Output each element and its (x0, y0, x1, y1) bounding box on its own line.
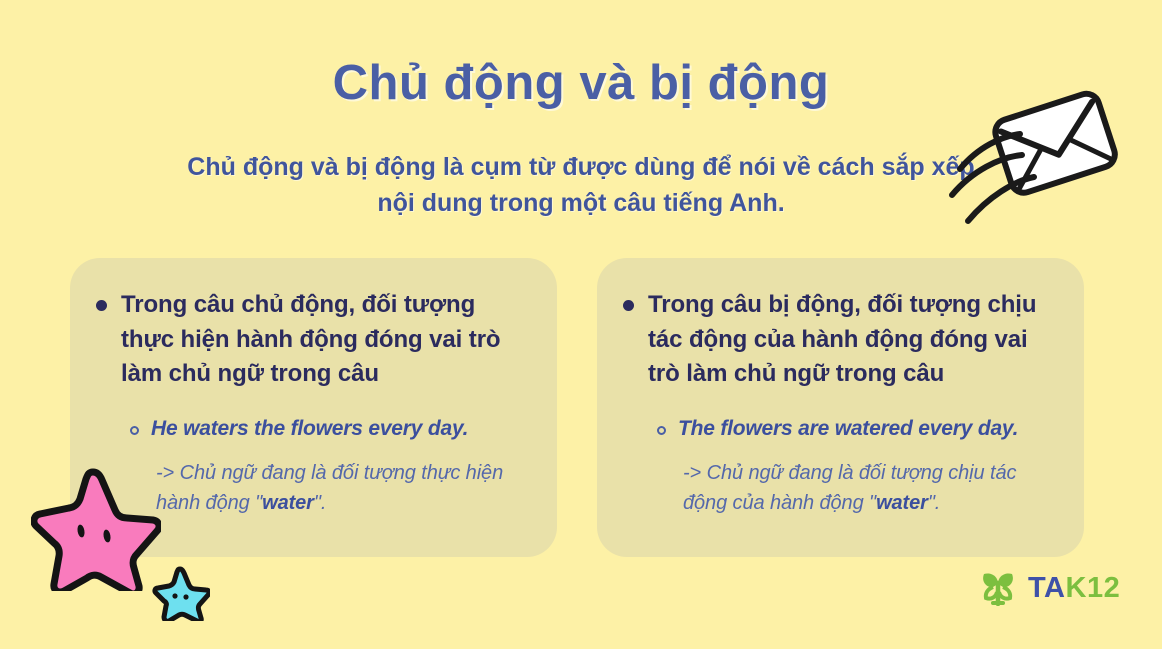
circle-marker-icon (657, 426, 666, 435)
bullet-dot-icon (96, 300, 107, 311)
bullet-text: Trong câu bị động, đối tượng chịu tác độ… (648, 288, 1058, 392)
slide-canvas: Chủ động và bị động Chủ động và bị động … (0, 0, 1162, 649)
example-sentence: The flowers are watered every day. (678, 415, 1018, 442)
logo-text-primary: TA (1028, 572, 1066, 604)
envelope-icon (930, 85, 1130, 235)
bullet-item: Trong câu chủ động, đối tượng thực hiện … (96, 288, 531, 392)
sprout-icon (978, 570, 1020, 606)
example-item: He waters the flowers every day. (130, 415, 531, 442)
brand-logo[interactable]: TAK12 (978, 570, 1120, 606)
star-decoration-small (152, 565, 210, 621)
note-keyword: water (262, 492, 314, 514)
note-text-after: ". (314, 492, 326, 514)
note-text-before: -> Chủ ngữ đang là đối tượng thực hiện h… (156, 462, 503, 514)
bullet-text: Trong câu chủ động, đối tượng thực hiện … (121, 288, 531, 392)
logo-text-secondary: K12 (1066, 572, 1121, 604)
page-subtitle: Chủ động và bị động là cụm từ được dùng … (181, 150, 981, 221)
example-sentence: He waters the flowers every day. (151, 415, 468, 442)
example-item: The flowers are watered every day. (657, 415, 1058, 442)
star-icon (152, 565, 210, 621)
note-text-before: -> Chủ ngữ đang là đối tượng chịu tác độ… (683, 462, 1016, 514)
note-keyword: water (876, 492, 928, 514)
star-icon (31, 466, 161, 591)
example-note: -> Chủ ngữ đang là đối tượng thực hiện h… (156, 458, 531, 519)
star-decoration-large (31, 466, 161, 591)
circle-marker-icon (130, 426, 139, 435)
logo-wordmark: TAK12 (1028, 574, 1120, 603)
bullet-dot-icon (623, 300, 634, 311)
example-note: -> Chủ ngữ đang là đối tượng chịu tác độ… (683, 458, 1058, 519)
note-text-after: ". (928, 492, 940, 514)
bullet-item: Trong câu bị động, đối tượng chịu tác độ… (623, 288, 1058, 392)
card-passive-voice: Trong câu bị động, đối tượng chịu tác độ… (597, 258, 1084, 557)
envelope-decoration (930, 85, 1130, 235)
